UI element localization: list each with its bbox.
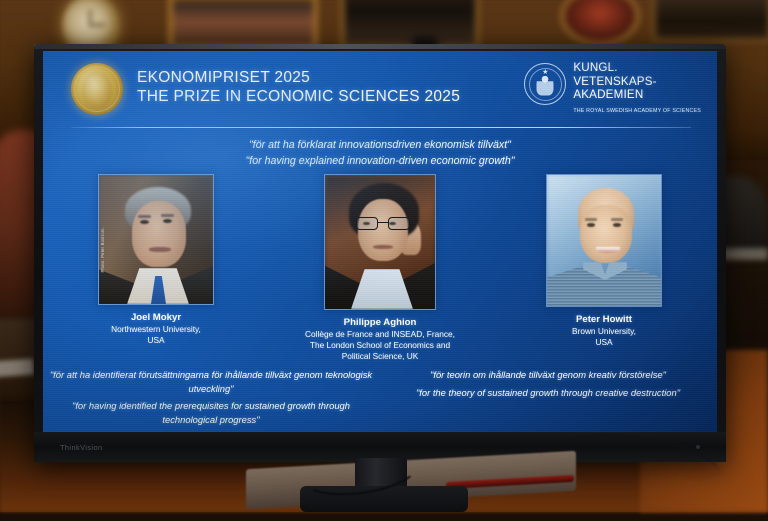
laureate-name: Philippe Aghion bbox=[268, 317, 492, 329]
seal-figure bbox=[537, 74, 554, 95]
photo-credit: Photo: Peter Bostrom. bbox=[100, 227, 105, 273]
portrait-image bbox=[99, 175, 213, 304]
citation-en: "for having identified the prerequisites… bbox=[49, 399, 373, 426]
bezel-highlight bbox=[34, 44, 726, 49]
laureate-name: Peter Howitt bbox=[492, 314, 716, 326]
academy-line-1: KUNGL. bbox=[573, 61, 701, 75]
portrait-image bbox=[325, 175, 435, 309]
citation-block-right: "för teorin om ihållande tillväxt genom … bbox=[379, 368, 717, 426]
main-citation-en: "for having explained innovation-driven … bbox=[43, 153, 717, 169]
laureate-card: Peter Howitt Brown University, USA bbox=[492, 174, 716, 348]
laureate-affiliation-line: Collège de France and INSEAD, France, bbox=[268, 329, 492, 340]
nobel-prize-slide: EKONOMIPRISET 2025 THE PRIZE IN ECONOMIC… bbox=[43, 51, 717, 432]
page-title-en: THE PRIZE IN ECONOMIC SCIENCES 2025 bbox=[137, 87, 460, 106]
laureate-affiliation-line: Political Science, UK bbox=[268, 351, 492, 362]
power-led-icon[interactable] bbox=[696, 445, 700, 449]
header-divider bbox=[71, 127, 691, 128]
main-citation: "för att ha förklarat innovationsdriven … bbox=[43, 137, 717, 169]
citation-sv: "för att ha identifierat förutsättningar… bbox=[49, 368, 373, 395]
thinkvision-logo: ThinkVision bbox=[60, 443, 102, 452]
laureate-card: Photo: Peter Bostrom. Joel Mokyr Northwe… bbox=[44, 174, 268, 346]
laureate-affiliation-line: Northwestern University, bbox=[44, 324, 268, 335]
academy-line-3: AKADEMIEN bbox=[573, 88, 701, 102]
citation-en: "for the theory of sustained growth thro… bbox=[385, 386, 711, 400]
laureate-affiliation-line: Brown University, bbox=[492, 326, 716, 337]
academy-subtitle: THE ROYAL SWEDISH ACADEMY OF SCIENCES bbox=[573, 105, 701, 119]
royal-academy-seal-icon: ★ bbox=[524, 63, 566, 105]
portrait-image bbox=[547, 175, 661, 306]
nobel-medal-icon bbox=[71, 63, 123, 115]
paper-sheet bbox=[0, 359, 35, 378]
citation-block-left: "för att ha identifierat förutsättningar… bbox=[43, 368, 379, 426]
framed-painting-2 bbox=[340, 0, 480, 50]
framed-painting-4 bbox=[652, 0, 768, 42]
citation-sv: "för teorin om ihållande tillväxt genom … bbox=[385, 368, 711, 382]
portrait-joel-mokyr: Photo: Peter Bostrom. bbox=[98, 174, 214, 305]
laureate-affiliation-line: The London School of Economics and bbox=[268, 340, 492, 351]
bottom-citations: "för att ha identifierat förutsättningar… bbox=[43, 368, 717, 426]
laureate-affiliation-line: USA bbox=[492, 337, 716, 348]
laureate-affiliation-line: USA bbox=[44, 335, 268, 346]
royal-academy-logo: ★ KUNGL. VETENSKAPS- AKADEMIEN THE ROYAL… bbox=[524, 61, 701, 118]
laureate-name: Joel Mokyr bbox=[44, 312, 268, 324]
framed-painting-1 bbox=[168, 0, 318, 50]
portrait-philippe-aghion bbox=[324, 174, 436, 310]
laureate-card: Philippe Aghion Collège de France and IN… bbox=[268, 174, 492, 362]
monitor-screen[interactable]: EKONOMIPRISET 2025 THE PRIZE IN ECONOMIC… bbox=[43, 51, 717, 432]
slide-header-titles: EKONOMIPRISET 2025 THE PRIZE IN ECONOMIC… bbox=[137, 68, 460, 106]
medal-portrait bbox=[82, 71, 112, 109]
main-citation-sv: "för att ha förklarat innovationsdriven … bbox=[43, 137, 717, 153]
laureates-row: Photo: Peter Bostrom. Joel Mokyr Northwe… bbox=[43, 174, 717, 362]
page-title-sv: EKONOMIPRISET 2025 bbox=[137, 68, 460, 87]
portrait-peter-howitt bbox=[546, 174, 662, 307]
academy-line-2: VETENSKAPS- bbox=[573, 75, 701, 89]
monitor: EKONOMIPRISET 2025 THE PRIZE IN ECONOMIC… bbox=[34, 44, 726, 462]
academy-wordmark: KUNGL. VETENSKAPS- AKADEMIEN THE ROYAL S… bbox=[573, 61, 701, 118]
